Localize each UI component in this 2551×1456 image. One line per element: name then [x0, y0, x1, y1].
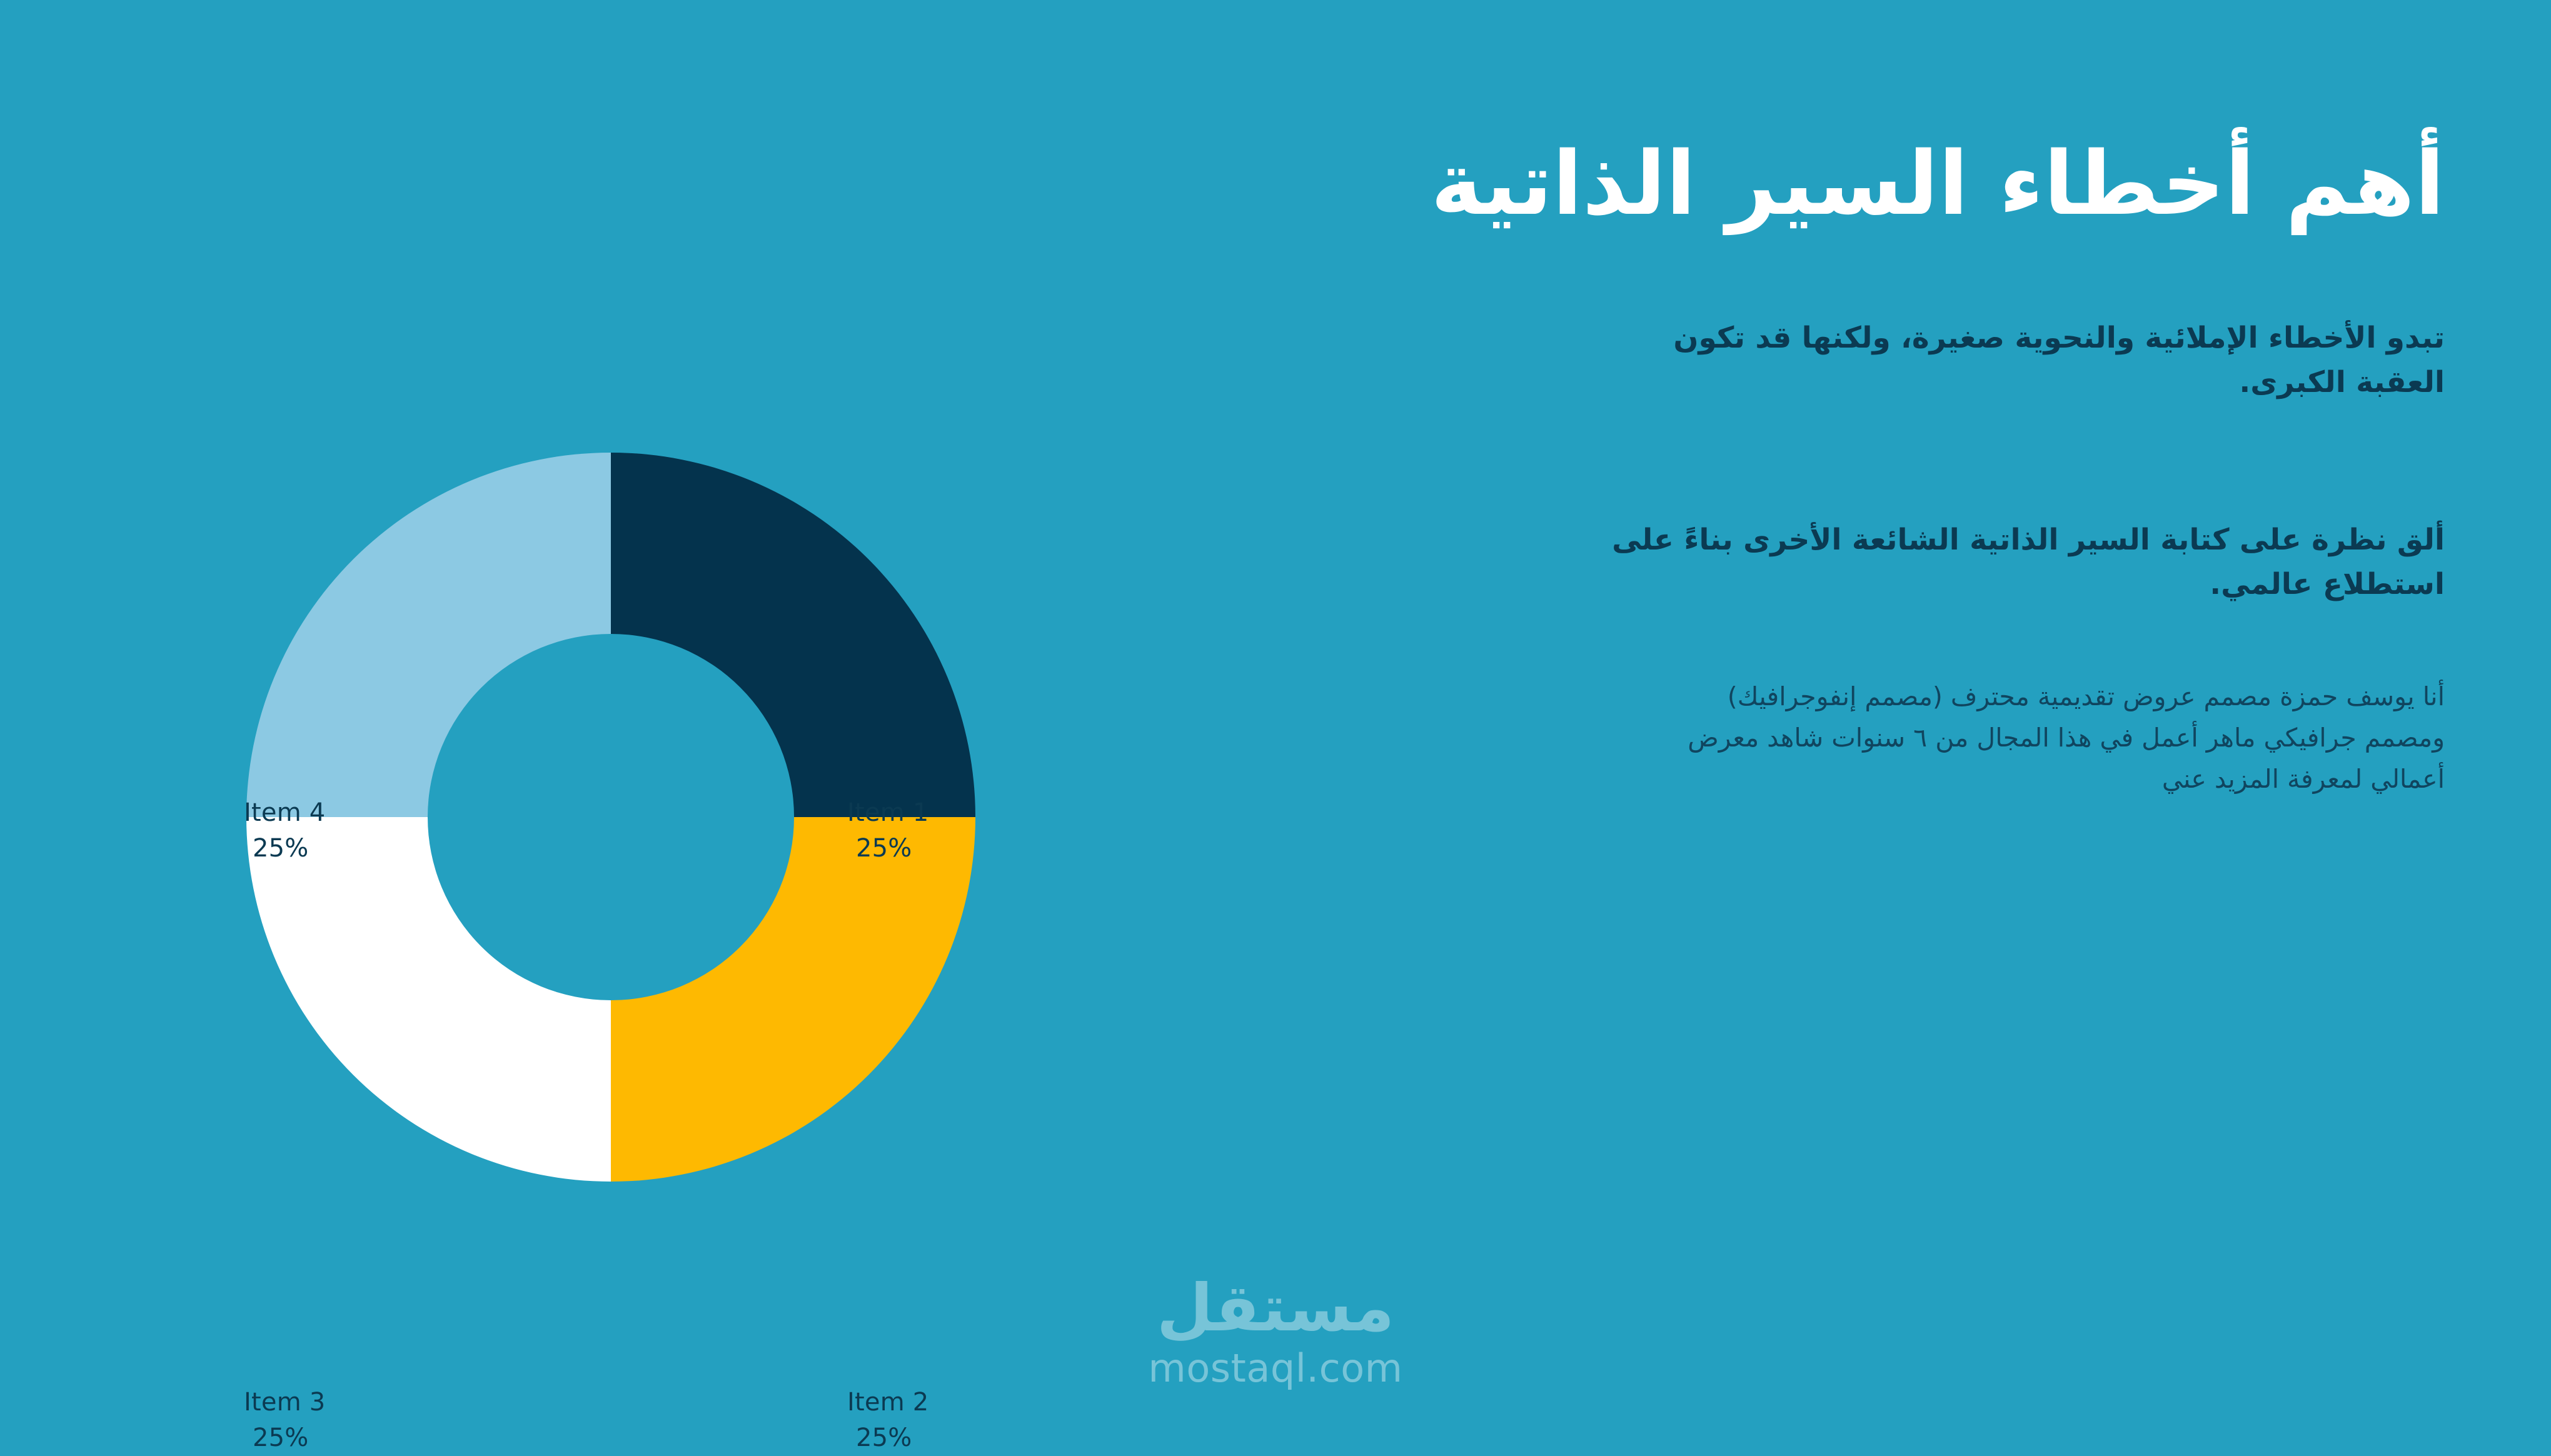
slide-canvas: Item 1 25% Item 2 25% Item 3 25% Item 4 …	[0, 0, 2551, 1435]
secondary-paragraph: ألق نظرة على كتابة السير الذاتية الشائعة…	[1607, 405, 2445, 607]
donut-hole	[428, 634, 794, 1000]
mostaql-logo-arabic: مستقل	[1100, 1275, 1451, 1340]
mostaql-watermark: مستقل mostaql.com	[1100, 1275, 1451, 1407]
donut-label-item-3-percent: 25%	[244, 1420, 325, 1456]
author-bio-paragraph: أنا يوسف حمزة مصمم عروض تقديمية محترف (م…	[1644, 607, 2445, 800]
donut-label-item-1-name: Item 1	[847, 798, 928, 827]
page-title: أهم أخطاء السير الذاتية	[1157, 131, 2445, 238]
mostaql-logo-url: mostaql.com	[1100, 1340, 1451, 1393]
donut-label-item-4-name: Item 4	[244, 798, 325, 827]
donut-label-item-3-name: Item 3	[244, 1388, 325, 1417]
donut-label-item-2-name: Item 2	[847, 1388, 928, 1417]
donut-label-item-4: Item 4 25%	[244, 795, 325, 866]
donut-label-item-4-percent: 25%	[244, 831, 325, 866]
donut-label-item-1-percent: 25%	[847, 831, 928, 866]
donut-label-item-3: Item 3 25%	[244, 1385, 325, 1456]
lead-paragraph: تبدو الأخطاء الإملائية والنحوية صغيرة، و…	[1632, 238, 2445, 405]
content-column: أهم أخطاء السير الذاتية تبدو الأخطاء الإ…	[1157, 131, 2445, 800]
donut-chart: Item 1 25% Item 2 25% Item 3 25% Item 4 …	[0, 350, 1225, 1238]
donut-label-item-1: Item 1 25%	[847, 795, 928, 866]
donut-label-item-2-percent: 25%	[847, 1420, 928, 1456]
donut-label-item-2: Item 2 25%	[847, 1385, 928, 1456]
